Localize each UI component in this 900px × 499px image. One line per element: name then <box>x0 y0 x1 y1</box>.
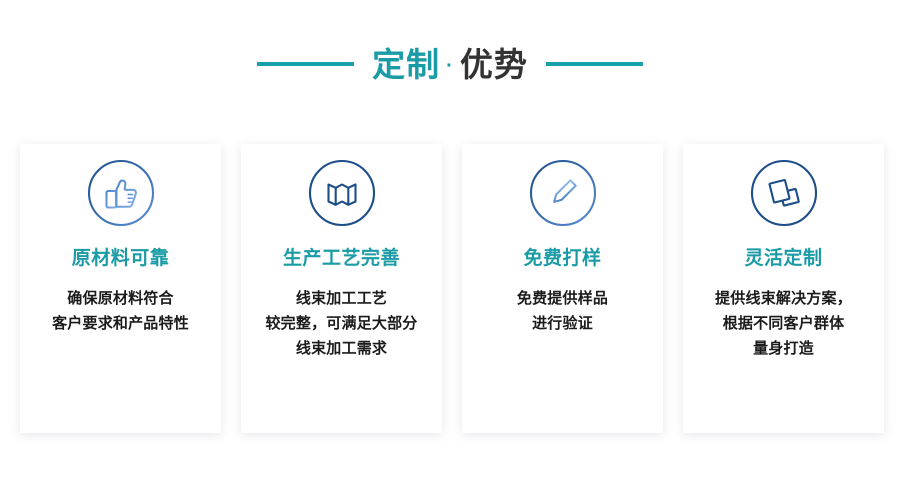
section-heading: 定制 · 优势 <box>0 0 900 120</box>
description-line: 较完整，可满足大部分 <box>251 311 433 336</box>
heading-rule-left <box>257 62 354 66</box>
pencil-icon <box>528 158 598 228</box>
page-title-secondary: 优势 <box>460 48 528 81</box>
description-line: 量身打造 <box>693 336 875 361</box>
advantage-card-title: 免费打样 <box>523 249 601 268</box>
page-title-primary: 定制 <box>372 48 440 81</box>
advantage-card-description: 免费提供样品 进行验证 <box>472 286 654 336</box>
advantage-card-title: 原材料可靠 <box>72 249 170 268</box>
description-line: 免费提供样品 <box>472 286 654 311</box>
advantage-card[interactable]: 灵活定制 提供线束解决方案， 根据不同客户群体 量身打造 <box>683 144 884 433</box>
description-line: 确保原材料符合 <box>30 286 212 311</box>
description-line: 线束加工需求 <box>251 336 433 361</box>
advantage-card[interactable]: 免费打样 免费提供样品 进行验证 <box>462 144 663 433</box>
overlapping-cards-icon <box>749 158 819 228</box>
advantage-card-description: 线束加工工艺 较完整，可满足大部分 线束加工需求 <box>251 286 433 362</box>
advantage-card[interactable]: 原材料可靠 确保原材料符合 客户要求和产品特性 <box>20 144 221 433</box>
page-title-separator: · <box>446 56 454 76</box>
advantage-card-title: 灵活定制 <box>744 249 822 268</box>
description-line: 进行验证 <box>472 311 654 336</box>
heading-rule-right <box>546 62 643 66</box>
advantage-card-title: 生产工艺完善 <box>283 249 400 268</box>
advantage-card-list: 原材料可靠 确保原材料符合 客户要求和产品特性 生产工艺完善 线束加工工艺 较完… <box>20 144 884 433</box>
advantages-section: 定制 · 优势 <box>0 0 900 499</box>
thumbs-up-icon <box>86 158 156 228</box>
description-line: 根据不同客户群体 <box>693 311 875 336</box>
description-line: 提供线束解决方案， <box>693 286 875 311</box>
folded-map-icon <box>307 158 377 228</box>
advantage-card[interactable]: 生产工艺完善 线束加工工艺 较完整，可满足大部分 线束加工需求 <box>241 144 442 433</box>
description-line: 客户要求和产品特性 <box>30 311 212 336</box>
description-line: 线束加工工艺 <box>251 286 433 311</box>
advantage-card-description: 提供线束解决方案， 根据不同客户群体 量身打造 <box>693 286 875 362</box>
page-title: 定制 · 优势 <box>372 48 528 81</box>
advantage-card-description: 确保原材料符合 客户要求和产品特性 <box>30 286 212 336</box>
